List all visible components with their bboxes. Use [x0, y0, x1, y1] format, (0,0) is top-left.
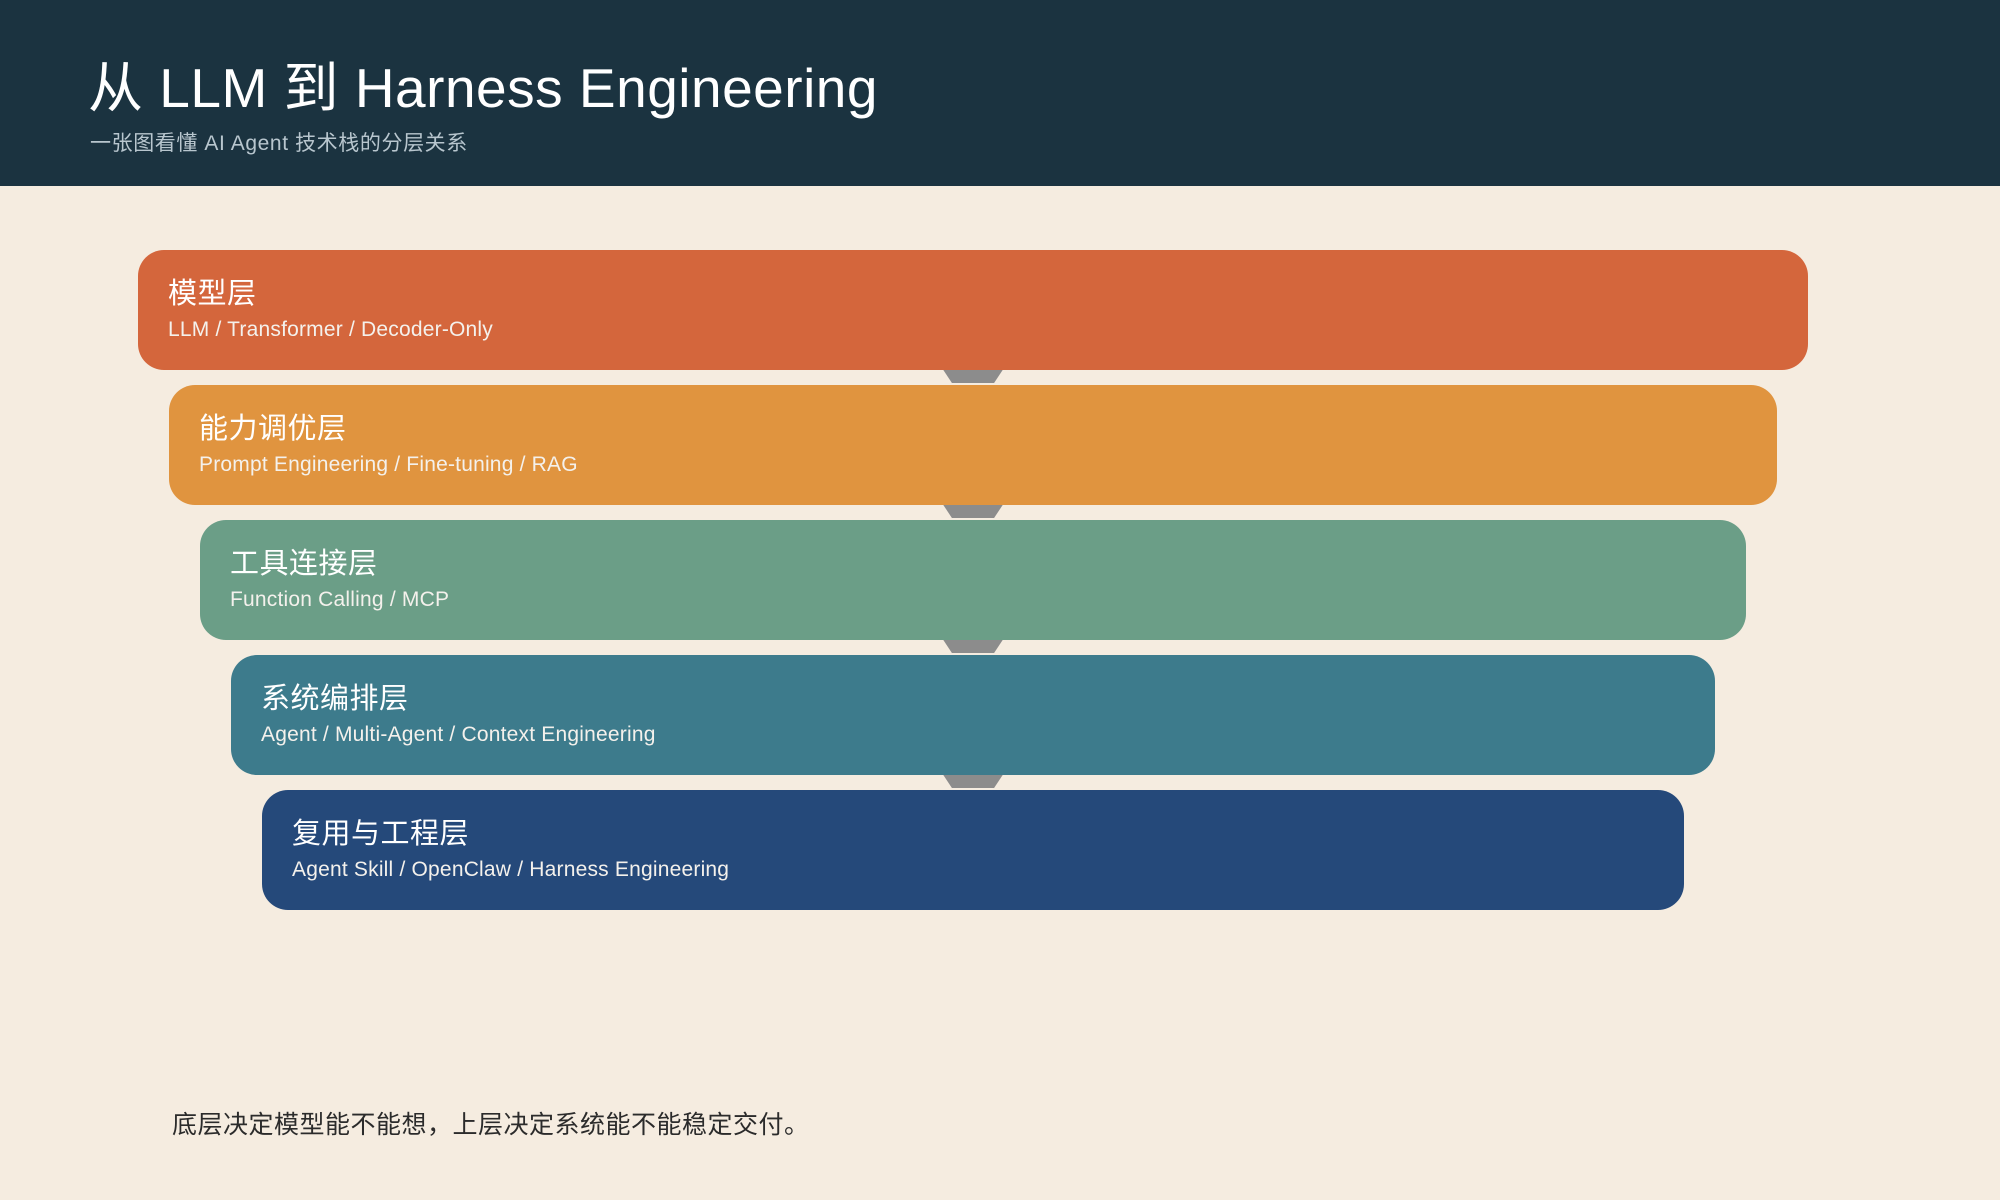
layer-content-2: 能力调优层Prompt Engineering / Fine-tuning / …: [169, 385, 1777, 505]
layer-connector-arrow-3: [942, 638, 1004, 653]
page-header: 从 LLM 到 Harness Engineering 一张图看懂 AI Age…: [0, 0, 2000, 186]
layer-subtitle-2: Prompt Engineering / Fine-tuning / RAG: [199, 451, 1777, 478]
page-title: 从 LLM 到 Harness Engineering: [88, 60, 878, 118]
layer-content-5: 复用与工程层Agent Skill / OpenClaw / Harness E…: [262, 790, 1684, 910]
layer-bar-4[interactable]: 系统编排层Agent / Multi-Agent / Context Engin…: [231, 655, 1715, 775]
layer-connector-arrow-4: [942, 773, 1004, 788]
layer-content-1: 模型层LLM / Transformer / Decoder-Only: [138, 250, 1808, 370]
layer-subtitle-3: Function Calling / MCP: [230, 586, 1746, 613]
footer-note: 底层决定模型能不能想，上层决定系统能不能稳定交付。: [172, 1105, 810, 1141]
layer-title-2: 能力调优层: [199, 412, 1777, 447]
layer-connector-arrow-1: [942, 368, 1004, 383]
layer-title-1: 模型层: [168, 277, 1808, 312]
layer-connector-arrow-2: [942, 503, 1004, 518]
layer-subtitle-5: Agent Skill / OpenClaw / Harness Enginee…: [292, 856, 1684, 883]
page-subtitle: 一张图看懂 AI Agent 技术栈的分层关系: [90, 127, 468, 157]
layer-bar-1[interactable]: 模型层LLM / Transformer / Decoder-Only: [138, 250, 1808, 370]
layer-bar-2[interactable]: 能力调优层Prompt Engineering / Fine-tuning / …: [169, 385, 1777, 505]
layer-title-5: 复用与工程层: [292, 817, 1684, 852]
layer-subtitle-1: LLM / Transformer / Decoder-Only: [168, 316, 1808, 343]
layer-content-4: 系统编排层Agent / Multi-Agent / Context Engin…: [231, 655, 1715, 775]
layer-bar-5[interactable]: 复用与工程层Agent Skill / OpenClaw / Harness E…: [262, 790, 1684, 910]
layer-content-3: 工具连接层Function Calling / MCP: [200, 520, 1746, 640]
layer-title-4: 系统编排层: [261, 682, 1715, 717]
layer-stack-diagram: 模型层LLM / Transformer / Decoder-Only能力调优层…: [0, 186, 2000, 1200]
layer-bar-3[interactable]: 工具连接层Function Calling / MCP: [200, 520, 1746, 640]
layer-title-3: 工具连接层: [230, 547, 1746, 582]
layer-subtitle-4: Agent / Multi-Agent / Context Engineerin…: [261, 721, 1715, 748]
